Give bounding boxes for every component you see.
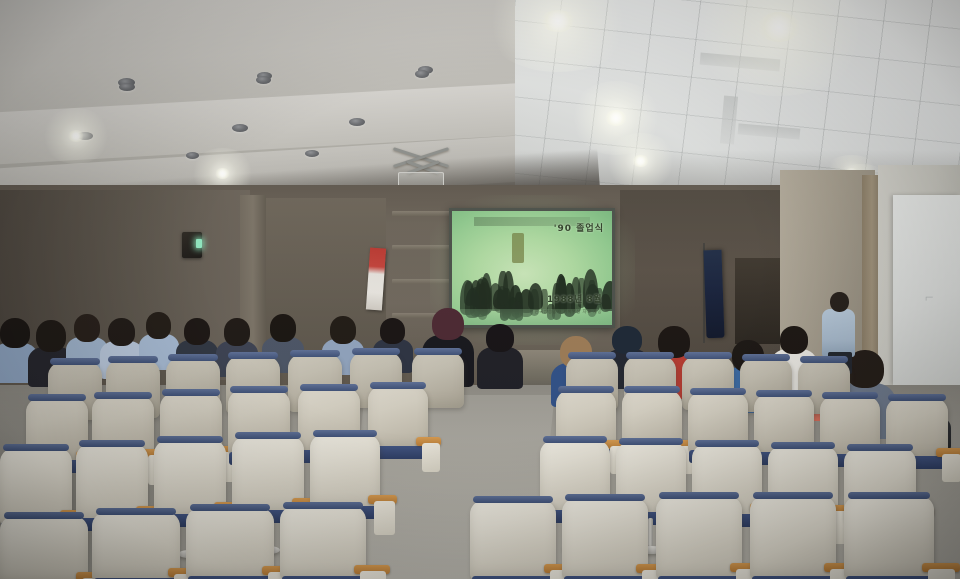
seat-top-trim <box>228 352 278 359</box>
seat-top-trim <box>3 444 69 451</box>
seat-top-trim <box>157 436 223 443</box>
seat-top-trim <box>94 392 151 399</box>
seat-back <box>844 496 934 579</box>
seat-top-trim <box>168 354 218 361</box>
seat-top-trim <box>659 492 738 499</box>
seat-top-trim <box>756 390 811 397</box>
seat-top-trim <box>753 492 832 499</box>
seat-arm-panel <box>374 501 395 535</box>
seat-top-trim <box>847 444 913 451</box>
seat-top-trim <box>888 394 945 401</box>
seat-top-trim <box>370 382 425 389</box>
seat-top-trim <box>822 392 877 399</box>
seat-top-trim <box>50 358 100 365</box>
seat-top-trim <box>695 440 759 447</box>
seat-top-trim <box>848 492 931 499</box>
auditorium-seat[interactable] <box>310 434 380 510</box>
auditorium-seat[interactable] <box>844 496 934 579</box>
seat-top-trim <box>742 354 790 361</box>
auditorium-photo: ⌐ '90 졸업식 1988년 8월 한국방송공사 기록영상 자료 제공 <box>0 0 960 579</box>
seat-back <box>92 512 180 579</box>
seat-arm-panel <box>928 569 955 579</box>
seat-back <box>186 508 274 579</box>
seat-top-trim <box>565 494 644 501</box>
seat-top-trim <box>684 352 732 359</box>
seat-arm-panel <box>942 454 960 482</box>
seat-back <box>0 516 88 579</box>
seat-top-trim <box>800 356 848 363</box>
seat-top-trim <box>230 386 287 393</box>
seat-top-trim <box>690 388 745 395</box>
seat-top-trim <box>558 386 613 393</box>
auditorium-seat[interactable] <box>280 506 366 579</box>
seat-top-trim <box>190 504 271 511</box>
auditorium-seat[interactable] <box>656 496 742 579</box>
seat-top-trim <box>300 384 357 391</box>
seat-top-trim <box>624 386 679 393</box>
auditorium-seat[interactable] <box>92 512 180 579</box>
seat-top-trim <box>568 352 616 359</box>
seat-arm-panel <box>422 443 440 472</box>
seat-top-trim <box>619 438 683 445</box>
seat-top-trim <box>162 389 219 396</box>
auditorium-seat[interactable] <box>186 508 274 579</box>
seat-top-trim <box>473 496 552 503</box>
seat-top-trim <box>771 442 835 449</box>
seat-top-trim <box>543 436 607 443</box>
seat-top-trim <box>283 502 362 509</box>
auditorium-seat[interactable] <box>470 500 556 579</box>
seat-pedestal <box>648 518 653 546</box>
seat-top-trim <box>290 350 340 357</box>
auditorium-seat[interactable] <box>750 496 836 579</box>
seat-top-trim <box>414 348 462 355</box>
seat-top-trim <box>626 352 674 359</box>
auditorium-seat[interactable] <box>562 498 648 579</box>
seating <box>0 0 960 579</box>
seat-top-trim <box>79 440 145 447</box>
seat-top-trim <box>28 394 85 401</box>
seat-top-trim <box>313 430 377 437</box>
seat-top-trim <box>108 356 158 363</box>
seat-top-trim <box>235 432 301 439</box>
seat-top-trim <box>4 512 85 519</box>
seat-top-trim <box>352 348 400 355</box>
seat-arm-panel <box>360 571 386 579</box>
seat-top-trim <box>96 508 177 515</box>
auditorium-seat[interactable] <box>0 516 88 579</box>
